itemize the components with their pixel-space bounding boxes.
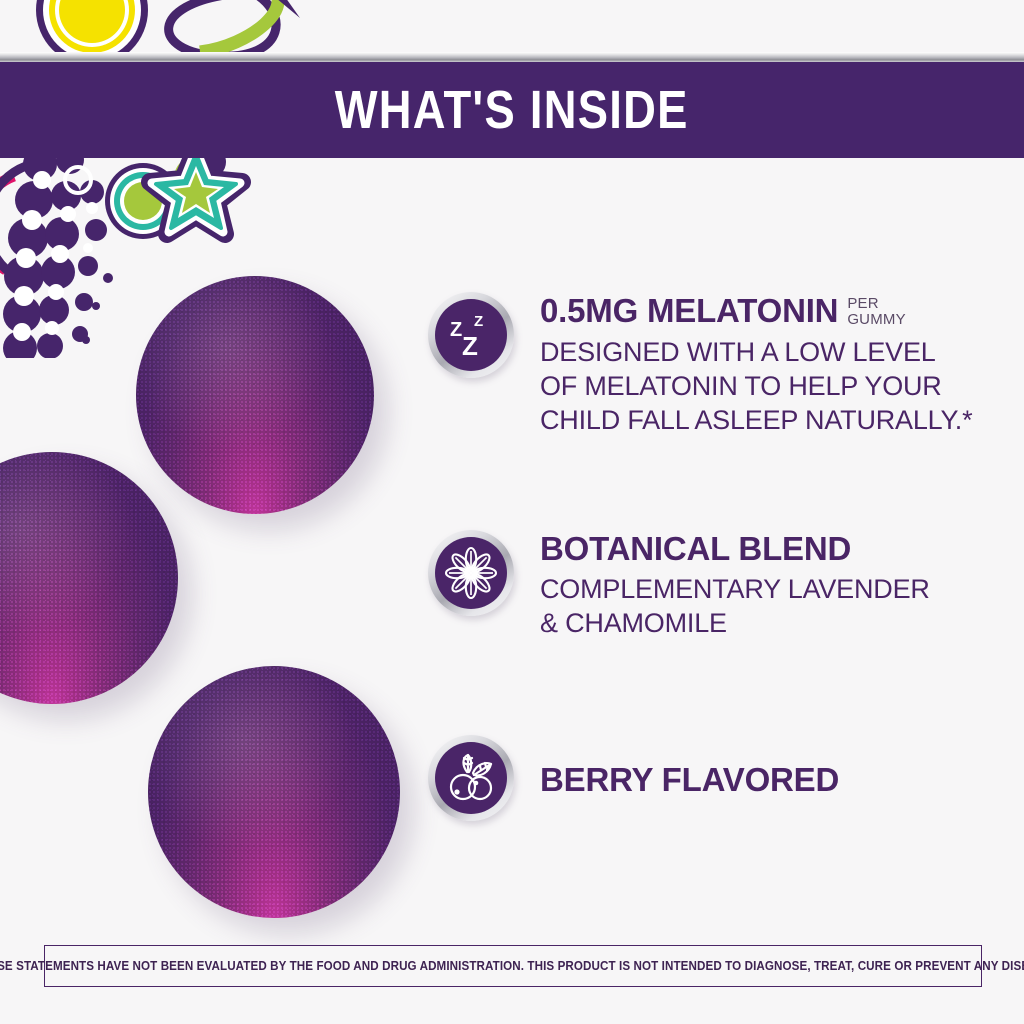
disclaimer-text: *THESE STATEMENTS HAVE NOT BEEN EVALUATE… — [0, 959, 1024, 973]
disclaimer-box: *THESE STATEMENTS HAVE NOT BEEN EVALUATE… — [44, 945, 982, 987]
page-title: WHAT'S INSIDE — [335, 79, 689, 141]
gummy-sphere — [0, 452, 178, 704]
feature-text-melatonin: 0.5MG MELATONIN PER GUMMY DESIGNED WITH … — [540, 292, 972, 437]
feature-heading: 0.5MG MELATONIN PER GUMMY — [540, 294, 972, 328]
silver-divider-strip — [0, 52, 1024, 62]
feature-heading-label: BOTANICAL BLEND — [540, 532, 851, 565]
feature-row-berry: BERRY FLAVORED — [428, 735, 848, 830]
feature-body: DESIGNED WITH A LOW LEVEL OF MELATONIN T… — [540, 335, 972, 437]
header-banner: WHAT'S INSIDE — [0, 62, 1024, 158]
feature-heading-label: BERRY FLAVORED — [540, 737, 839, 823]
gummy-sphere — [148, 666, 400, 918]
feature-row-botanical: BOTANICAL BLEND COMPLEMENTARY LAVENDER &… — [428, 530, 930, 640]
feature-superscript: PER GUMMY — [847, 296, 906, 328]
feature-text-botanical: BOTANICAL BLEND COMPLEMENTARY LAVENDER &… — [540, 530, 930, 640]
badge-berry — [428, 735, 514, 821]
badge-melatonin: Z Z Z — [428, 292, 514, 378]
svg-text:Z: Z — [450, 319, 462, 341]
svg-text:Z: Z — [474, 313, 483, 330]
feature-heading: BERRY FLAVORED — [540, 737, 848, 823]
badge-botanical — [428, 530, 514, 616]
decorative-confetti-top — [0, 0, 400, 58]
gummy-sphere — [136, 276, 374, 514]
berry-icon — [435, 742, 507, 814]
feature-heading: BOTANICAL BLEND — [540, 532, 930, 565]
feature-text-berry: BERRY FLAVORED — [540, 735, 848, 830]
zzz-sleep-icon: Z Z Z — [435, 299, 507, 371]
feature-body: COMPLEMENTARY LAVENDER & CHAMOMILE — [540, 572, 930, 640]
feature-row-melatonin: Z Z Z 0.5MG MELATONIN PER GUMMY DESIGNED… — [428, 292, 972, 437]
svg-text:Z: Z — [462, 331, 478, 361]
botanical-flower-icon — [435, 537, 507, 609]
infographic-canvas: WHAT'S INSIDE Z Z Z 0.5MG MELATONIN PER … — [0, 0, 1024, 1024]
feature-heading-label: 0.5MG MELATONIN — [540, 294, 838, 327]
